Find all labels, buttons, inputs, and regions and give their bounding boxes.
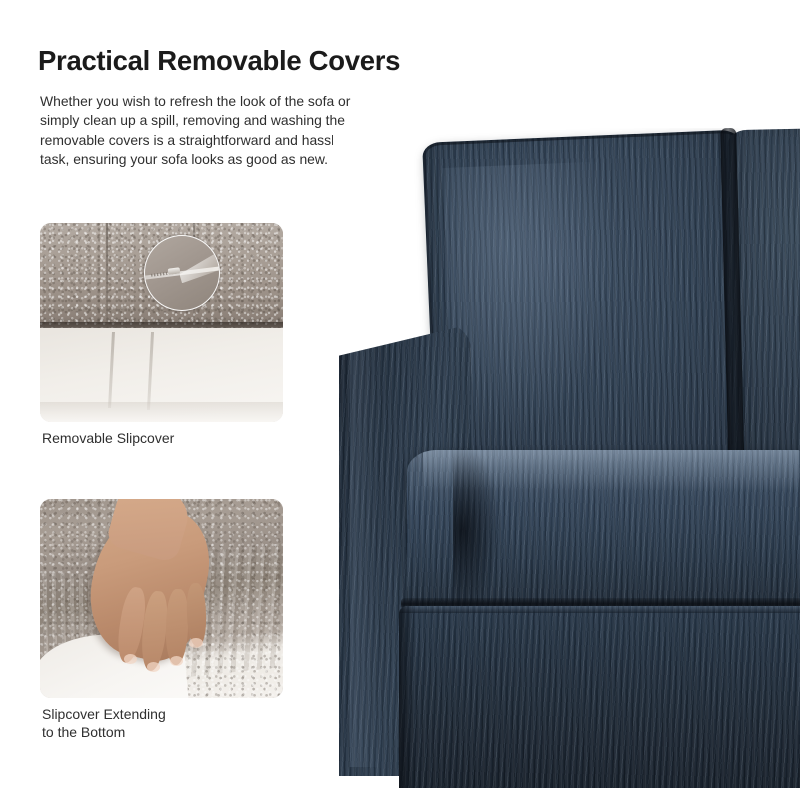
textile-weave-texture [399, 606, 800, 788]
hero-image-navy-sofa[interactable] [333, 128, 800, 788]
feature-thumbnail-removable-slipcover[interactable]: Removable Slipcover [40, 223, 283, 422]
feature-thumbnail-slipcover-extending[interactable]: Slipcover Extending to the Bottom [40, 499, 283, 698]
thumbnail-image-sofa-corner-zipper[interactable] [40, 223, 283, 422]
zipper-open-flap [180, 249, 221, 283]
skirt-top-hem [399, 606, 800, 613]
skirt-left-edge-shadow [399, 606, 415, 788]
thumbnail-caption: Removable Slipcover [42, 429, 174, 447]
sofa-skirt-panel [399, 606, 800, 788]
product-feature-panel: Practical Removable Covers Whether you w… [0, 0, 800, 800]
description-paragraph: Whether you wish to refresh the look of … [40, 92, 372, 169]
lining-hem [40, 402, 283, 422]
thumbnail-image-hand-lifting-cover[interactable] [40, 499, 283, 698]
magnifier-callout-circle [144, 235, 220, 311]
page-title: Practical Removable Covers [38, 46, 458, 76]
cover-seam-left [106, 223, 108, 323]
thumbnail-caption: Slipcover Extending to the Bottom [42, 705, 166, 741]
arm-seat-contact-shadow [453, 446, 501, 614]
arm-highlight [350, 333, 382, 767]
